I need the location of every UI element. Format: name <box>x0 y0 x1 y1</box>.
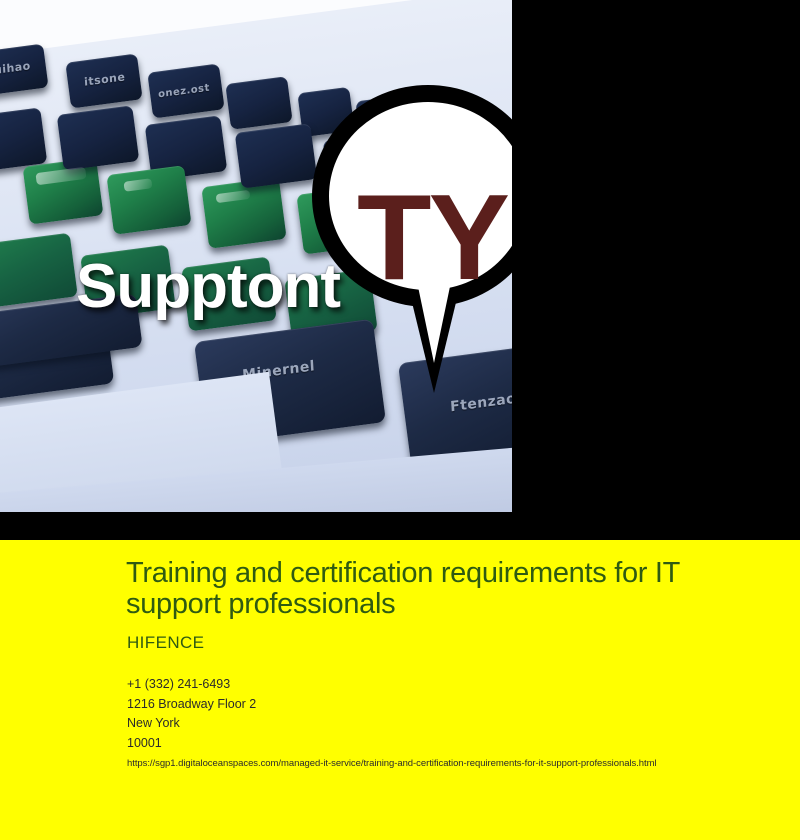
contact-street: 1216 Broadway Floor 2 <box>127 695 256 715</box>
keyboard-key <box>57 105 140 170</box>
keyboard-key <box>23 157 104 224</box>
hero-image: ruihao itsone onez.ost <box>0 0 512 512</box>
keyboard-key <box>0 107 47 172</box>
contact-postal-code: 10001 <box>127 734 256 754</box>
keyboard-key <box>235 123 318 188</box>
source-url-link[interactable]: https://sgp1.digitaloceanspaces.com/mana… <box>127 758 657 769</box>
keyboard-key <box>0 233 78 308</box>
contact-block: +1 (332) 241-6493 1216 Broadway Floor 2 … <box>127 675 256 753</box>
brand-name: HIFENCE <box>127 633 204 653</box>
contact-city: New York <box>127 714 256 734</box>
keyboard-key <box>225 76 292 130</box>
info-panel: Training and certification requirements … <box>0 540 800 840</box>
keyboard-photo: ruihao itsone onez.ost <box>0 0 512 512</box>
contact-phone: +1 (332) 241-6493 <box>127 675 256 695</box>
keyboard-key <box>106 165 191 235</box>
keyboard-key <box>201 177 286 249</box>
page-root: ruihao itsone onez.ost <box>0 0 800 840</box>
page-title: Training and certification requirements … <box>126 558 746 620</box>
speech-bubble-tail-fill <box>411 253 457 363</box>
image-watermark-text: Supptont <box>76 256 340 318</box>
speech-bubble: TY <box>312 85 512 395</box>
